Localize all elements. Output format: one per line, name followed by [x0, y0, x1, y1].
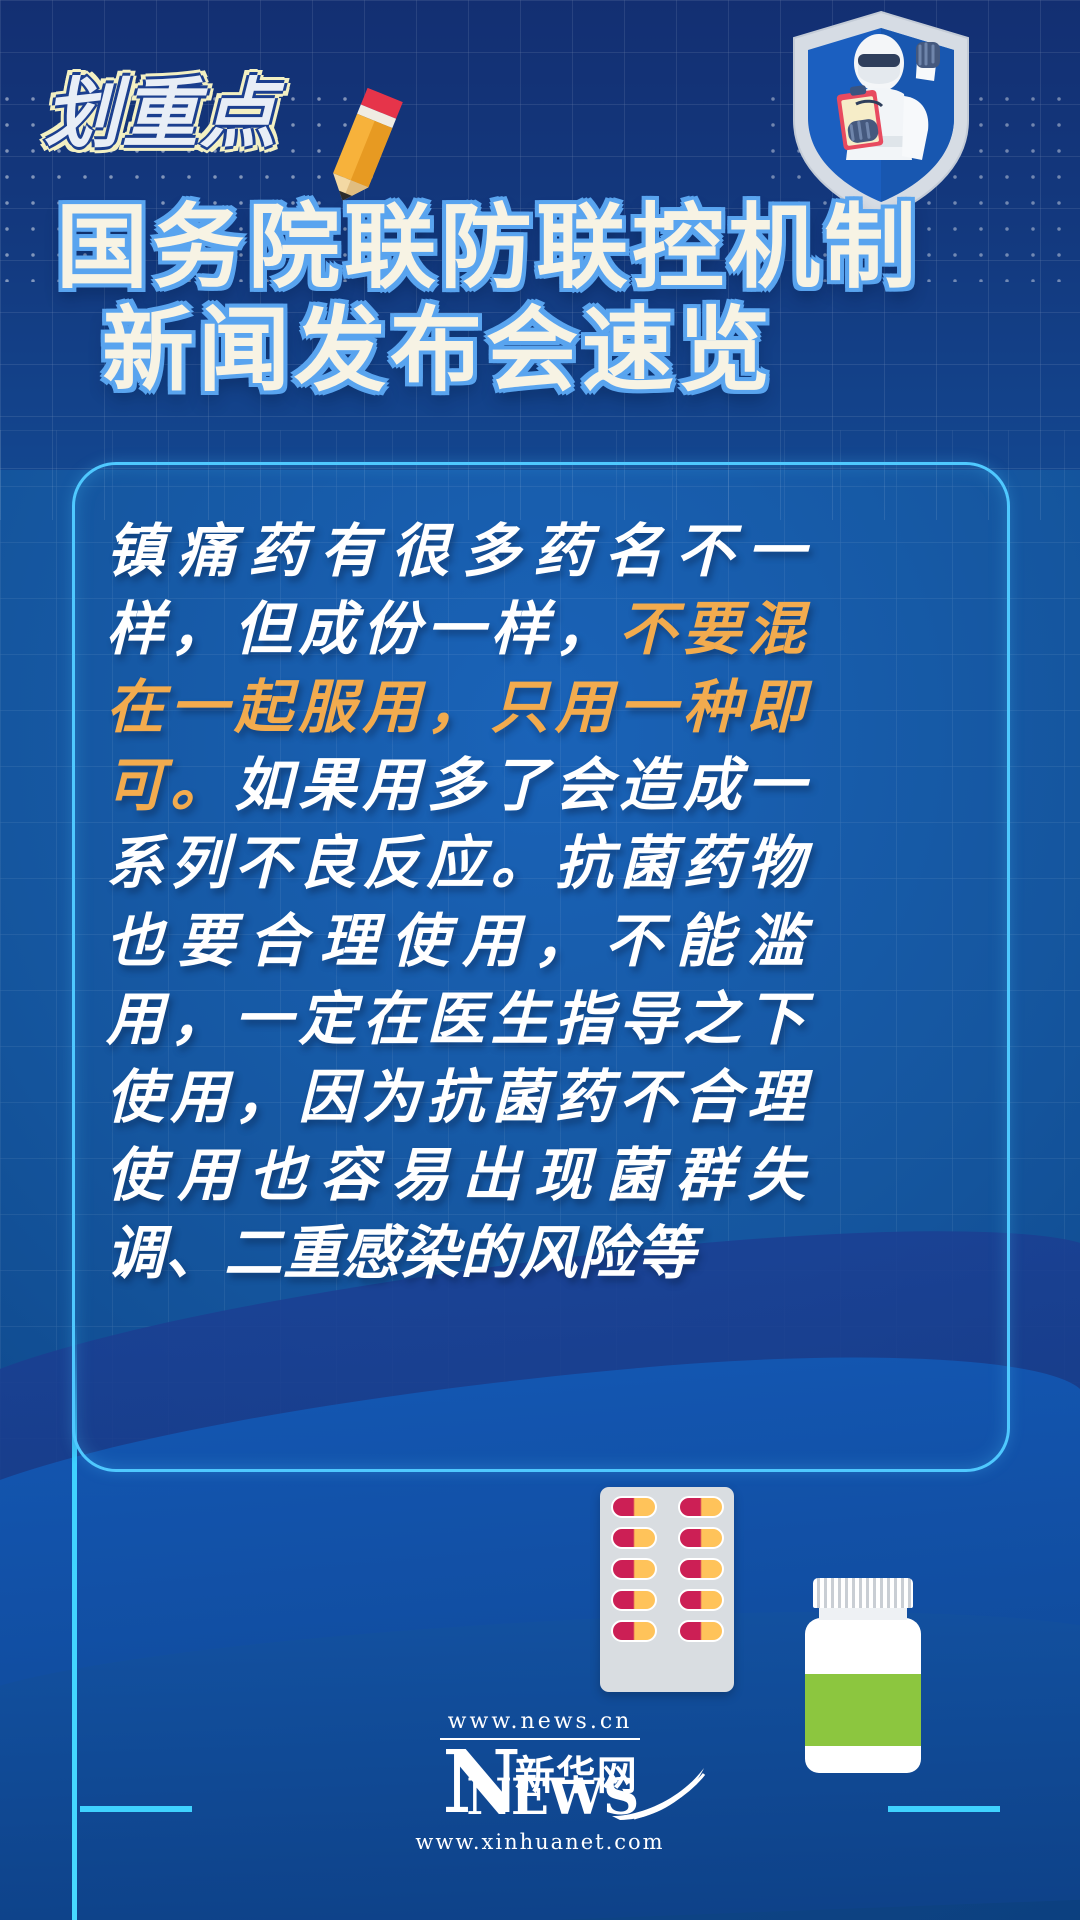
body-segment-3: 如果用多了会造成一系列不良反应。抗菌药物也要合理使用，不能滥用，一定在医生指导之… [106, 751, 806, 1287]
pill-capsule [678, 1620, 724, 1642]
poster-canvas: 划重点 [0, 0, 1080, 1920]
body-paragraph: 镇痛药有很多药名不一样，但成份一样，不要混在一起服用，只用一种即可。如果用多了会… [106, 512, 806, 1292]
pill-capsule [611, 1589, 657, 1611]
footer-url-bottom: www.xinhuanet.com [415, 1830, 664, 1854]
highlight-badge: 划重点 [44, 52, 278, 162]
page-title-line-2: 新闻发布会速览 [56, 299, 996, 402]
footer-url-top: www.news.cn [448, 1709, 633, 1734]
page-title-line-1: 国务院联防联控机制 [56, 196, 996, 299]
footer-logo: www.news.cn N 新华网 NEWS www.xinhuanet.com [0, 1709, 1080, 1854]
pill-capsule [611, 1620, 657, 1642]
pill-blister-pack-icon [600, 1487, 734, 1692]
pill-capsule [678, 1527, 724, 1549]
pill-capsule [611, 1496, 657, 1518]
pill-capsule [678, 1496, 724, 1518]
xinhua-logo-mark: N 新华网 NEWS [442, 1744, 638, 1822]
logo-swoosh-icon [610, 1766, 706, 1820]
shield-medical-worker-icon [786, 8, 976, 223]
pill-capsule [678, 1589, 724, 1611]
pill-capsule [611, 1558, 657, 1580]
highlight-badge-label: 划重点 [44, 52, 278, 162]
pill-capsule [611, 1527, 657, 1549]
bottle-neck [819, 1608, 907, 1620]
bottle-cap [813, 1578, 913, 1608]
page-title: 国务院联防联控机制 新闻发布会速览 [56, 196, 996, 402]
pill-capsule [678, 1558, 724, 1580]
